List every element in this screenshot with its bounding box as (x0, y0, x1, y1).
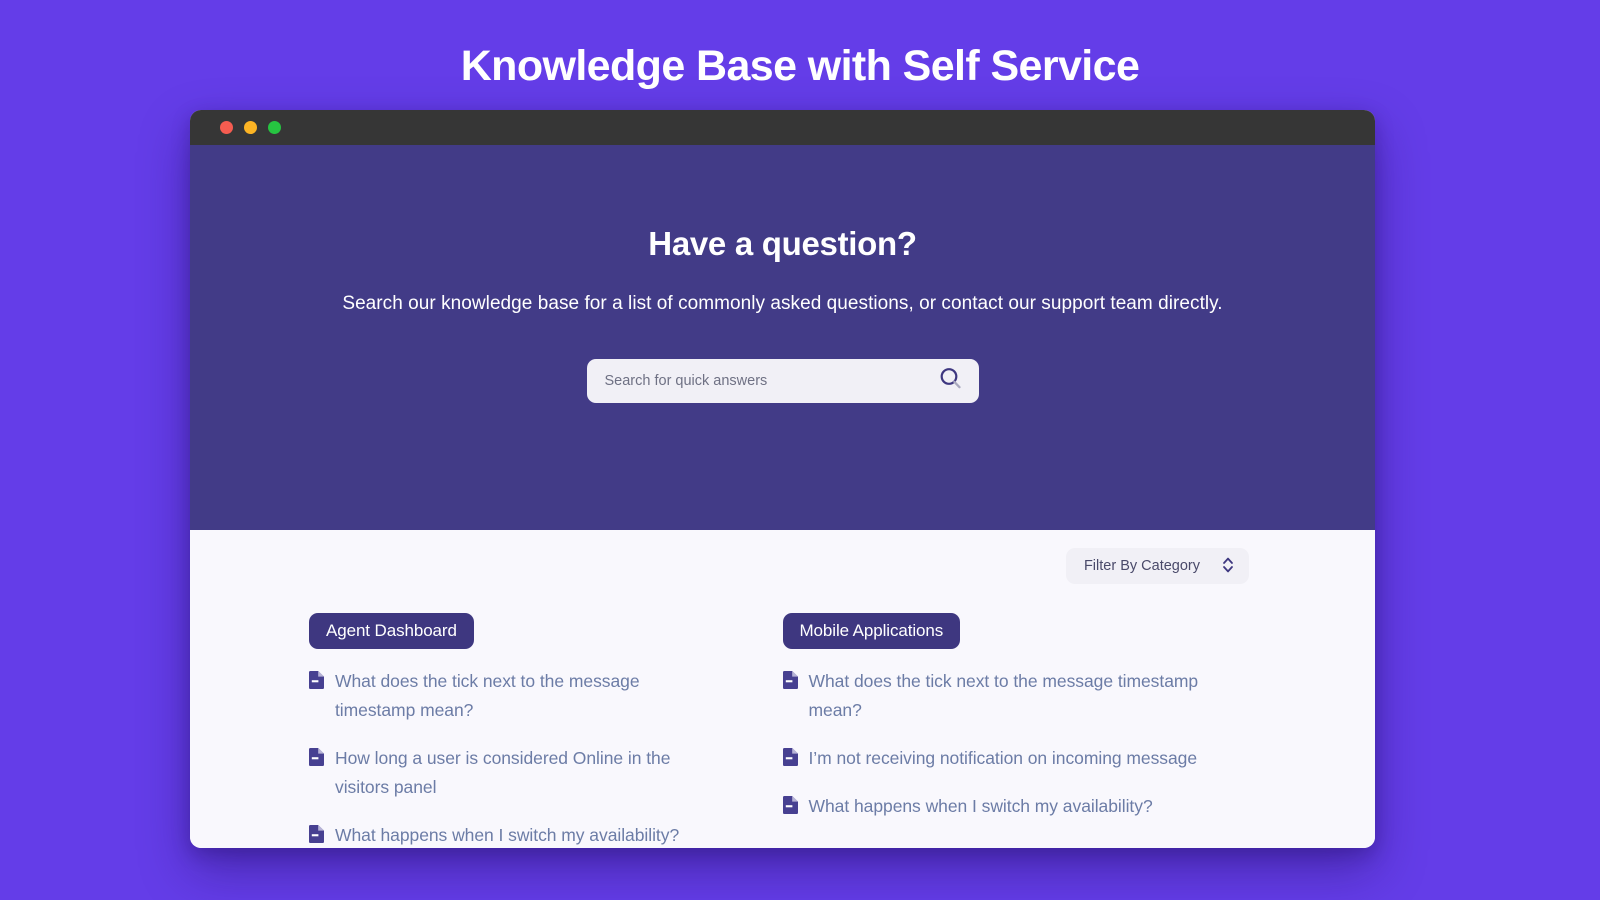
search-input[interactable] (605, 373, 938, 389)
article-title: What happens when I switch my availabili… (335, 821, 679, 848)
article-title: I’m not receiving notification on incomi… (809, 744, 1198, 773)
document-icon (309, 671, 324, 694)
article-title: What does the tick next to the message t… (335, 667, 723, 725)
filter-row: Filter By Category (309, 530, 1256, 584)
close-traffic-light-icon[interactable] (220, 121, 233, 134)
document-icon (783, 748, 798, 771)
hero-section: Have a question? Search our knowledge ba… (190, 145, 1375, 530)
filter-label: Filter By Category (1084, 558, 1200, 574)
category-column: Mobile Applications What does the tick n (783, 613, 1257, 848)
window-titlebar (190, 110, 1375, 145)
filter-by-category-dropdown[interactable]: Filter By Category (1066, 548, 1249, 584)
article-title: How long a user is considered Online in … (335, 744, 723, 802)
chevron-up-down-icon (1222, 556, 1234, 577)
list-item[interactable]: How long a user is considered Online in … (309, 744, 723, 802)
search-icon[interactable] (938, 366, 963, 396)
list-item[interactable]: What happens when I switch my availabili… (783, 792, 1257, 821)
search-bar[interactable] (587, 359, 979, 403)
maximize-traffic-light-icon[interactable] (268, 121, 281, 134)
category-badge-agent-dashboard[interactable]: Agent Dashboard (309, 613, 474, 649)
browser-window-mockup: Have a question? Search our knowledge ba… (190, 110, 1375, 848)
document-icon (783, 796, 798, 819)
list-item[interactable]: What does the tick next to the message t… (309, 667, 723, 725)
category-badge-mobile-applications[interactable]: Mobile Applications (783, 613, 961, 649)
hero-heading: Have a question? (190, 227, 1375, 260)
document-icon (309, 825, 324, 848)
article-list: What does the tick next to the message t… (309, 667, 723, 848)
list-item[interactable]: What does the tick next to the message t… (783, 667, 1257, 725)
content-section: Filter By Category Agent Dashboard (190, 530, 1375, 848)
document-icon (309, 748, 324, 771)
category-columns: Agent Dashboard What does the tick next (309, 613, 1256, 848)
list-item[interactable]: I’m not receiving notification on incomi… (783, 744, 1257, 773)
article-list: What does the tick next to the message t… (783, 667, 1257, 821)
list-item[interactable]: What happens when I switch my availabili… (309, 821, 723, 848)
document-icon (783, 671, 798, 694)
page-root: Knowledge Base with Self Service Have a … (0, 0, 1600, 900)
article-title: What does the tick next to the message t… (809, 667, 1257, 725)
article-title: What happens when I switch my availabili… (809, 792, 1153, 821)
page-title: Knowledge Base with Self Service (0, 0, 1600, 88)
hero-subheading: Search our knowledge base for a list of … (190, 293, 1375, 315)
category-column: Agent Dashboard What does the tick next (309, 613, 783, 848)
minimize-traffic-light-icon[interactable] (244, 121, 257, 134)
